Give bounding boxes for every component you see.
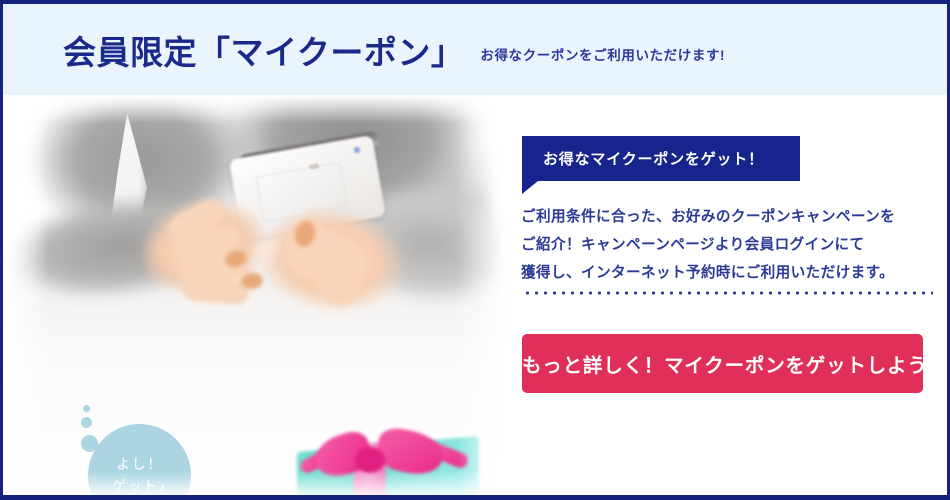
finger-shape (182, 277, 250, 306)
promo-content: お得なマイクーポンをゲット！ ご利用条件に合った、お好みのクーポンキャンペーンを… (519, 95, 947, 499)
thought-bubble-line-1: よし！ (116, 454, 163, 476)
get-my-coupon-button[interactable]: もっと詳しく！マイクーポンをゲットしよう (522, 334, 923, 393)
promo-badge-wrapper: お得なマイクーポンをゲット！ (522, 136, 800, 181)
ribbon-bow-knot (355, 447, 385, 473)
dotted-divider (523, 291, 933, 295)
hero-photo: よし！ ゲット♪ (3, 95, 508, 499)
coupon-promo-banner: 会員限定「マイクーポン」 お得なクーポンをご利用いただけます! (0, 0, 950, 500)
thought-bubble-dot-small (83, 405, 90, 412)
promo-description-line: ご紹介！キャンペーンページより会員ログインにて (521, 237, 865, 253)
promo-description: ご利用条件に合った、お好みのクーポンキャンペーンを ご紹介！キャンペーンページよ… (521, 203, 941, 287)
header-subtitle: お得なクーポンをご利用いただけます! (480, 44, 725, 64)
banner-header: 会員限定「マイクーポン」 お得なクーポンをご利用いただけます! (3, 4, 947, 95)
thought-bubble-line-2: ゲット♪ (112, 476, 167, 498)
speech-bubble-tail-icon (522, 181, 538, 194)
smartphone-led (354, 147, 360, 153)
promo-description-line: 獲得し、インターネット予約時にご利用いただけます。 (521, 265, 894, 281)
page-title: 会員限定「マイクーポン」 (63, 26, 464, 74)
promo-description-line: ご利用条件に合った、お好みのクーポンキャンペーンを (521, 209, 895, 225)
thought-bubble-dot-medium (81, 417, 92, 428)
promo-badge: お得なマイクーポンをゲット！ (522, 136, 800, 181)
